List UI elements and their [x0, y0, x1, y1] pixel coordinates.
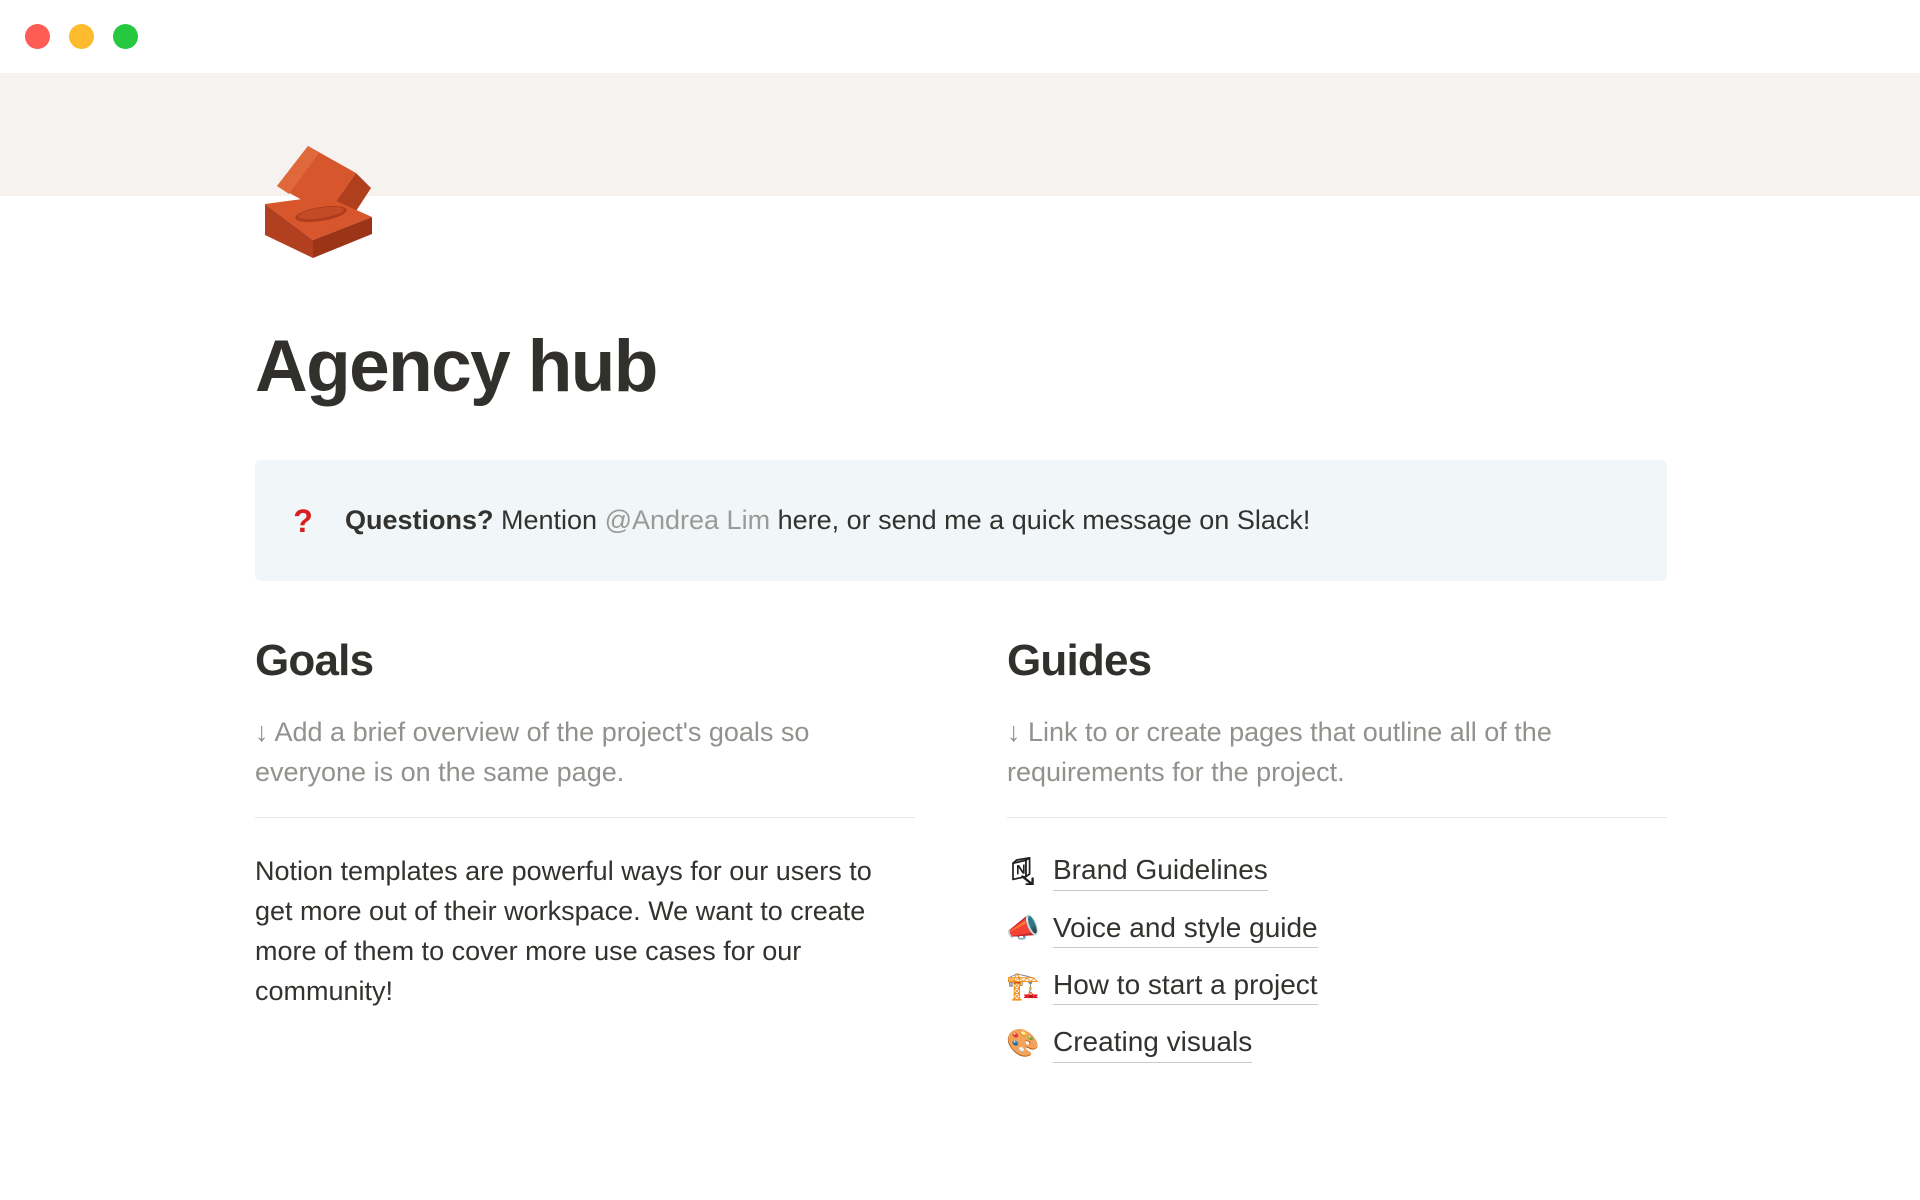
callout-text-after-mention: here, or send me a quick message on Slac…: [770, 505, 1310, 535]
traffic-light-controls: [25, 24, 138, 49]
guides-divider: [1007, 817, 1667, 818]
guide-link-label: Brand Guidelines: [1053, 852, 1268, 890]
goals-heading[interactable]: Goals: [255, 637, 915, 685]
page-title[interactable]: Agency hub: [255, 330, 1667, 404]
close-button[interactable]: [25, 24, 50, 49]
app-window: Agency hub ? Questions? Mention @Andrea …: [0, 0, 1920, 1200]
user-mention[interactable]: @Andrea Lim: [605, 505, 770, 535]
artist-palette-icon: 🎨: [1007, 1030, 1039, 1057]
callout-text: Questions? Mention @Andrea Lim here, or …: [345, 502, 1310, 538]
guides-heading[interactable]: Guides: [1007, 637, 1667, 685]
window-titlebar: [0, 0, 1920, 73]
minimize-button[interactable]: [69, 24, 94, 49]
guide-link-creating-visuals[interactable]: 🎨 Creating visuals: [1007, 1024, 1667, 1062]
callout-strong-text: Questions?: [345, 505, 494, 535]
page-content: Agency hub ? Questions? Mention @Andrea …: [255, 330, 1667, 1063]
maximize-button[interactable]: [113, 24, 138, 49]
brick-icon[interactable]: [253, 118, 403, 268]
notion-page-link-icon: [1007, 857, 1039, 885]
guide-link-voice-and-style-guide[interactable]: 📣 Voice and style guide: [1007, 910, 1667, 948]
megaphone-icon: 📣: [1007, 915, 1039, 942]
question-mark-icon: ?: [291, 505, 315, 537]
goals-divider: [255, 817, 915, 818]
guide-link-label: Voice and style guide: [1053, 910, 1318, 948]
questions-callout[interactable]: ? Questions? Mention @Andrea Lim here, o…: [255, 460, 1667, 580]
callout-text-before-mention: Mention: [494, 505, 605, 535]
guide-link-brand-guidelines[interactable]: Brand Guidelines: [1007, 852, 1667, 890]
goals-placeholder-text: ↓ Add a brief overview of the project's …: [255, 713, 915, 793]
two-column-layout: Goals ↓ Add a brief overview of the proj…: [255, 637, 1667, 1063]
guides-placeholder-text: ↓ Link to or create pages that outline a…: [1007, 713, 1667, 793]
guide-link-how-to-start-a-project[interactable]: 🏗️ How to start a project: [1007, 967, 1667, 1005]
guide-links-list: Brand Guidelines 📣 Voice and style guide…: [1007, 852, 1667, 1063]
construction-crane-icon: 🏗️: [1007, 973, 1039, 1000]
guide-link-label: Creating visuals: [1053, 1024, 1252, 1062]
goals-column: Goals ↓ Add a brief overview of the proj…: [255, 637, 915, 1063]
goals-body-text[interactable]: Notion templates are powerful ways for o…: [255, 852, 915, 1012]
guides-column: Guides ↓ Link to or create pages that ou…: [1007, 637, 1667, 1063]
guide-link-label: How to start a project: [1053, 967, 1318, 1005]
